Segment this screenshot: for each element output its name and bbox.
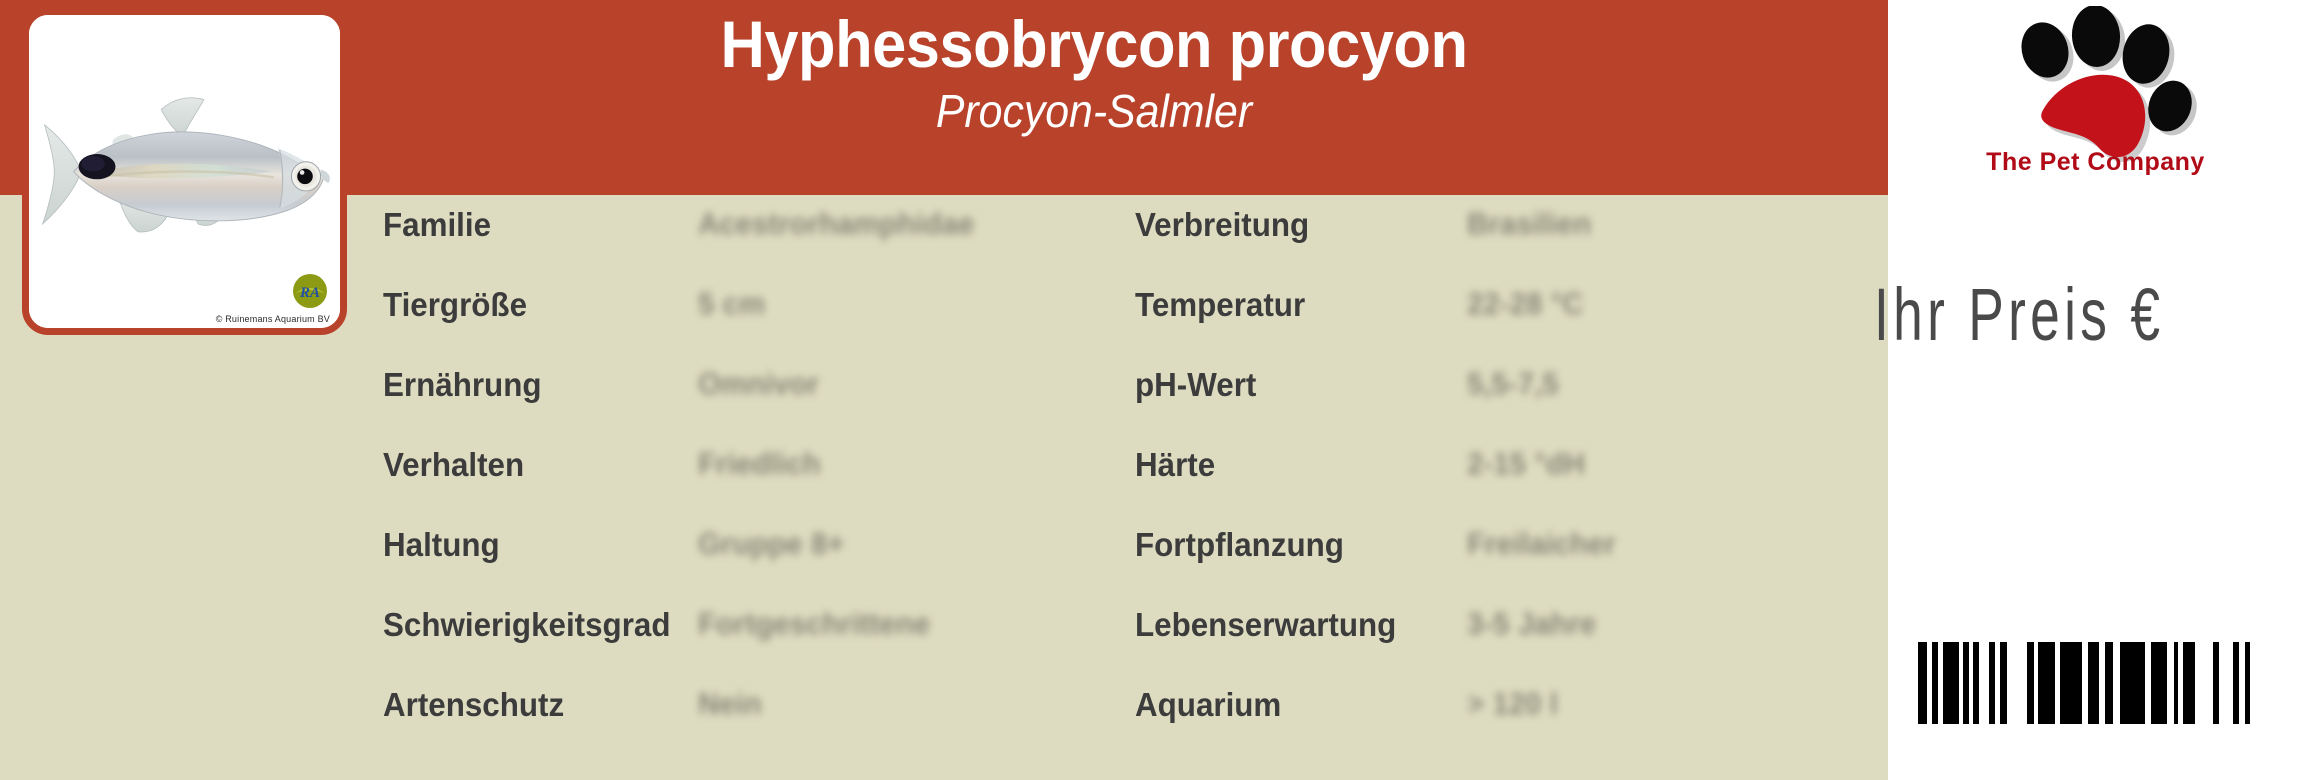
price-label: Ihr Preis € [1874,272,2191,357]
barcode-gap [1979,642,1989,724]
barcode-bar [2151,642,2167,724]
barcode-gap [2250,642,2264,724]
barcode-gap [2219,642,2233,724]
spec-label-familie: Familie [383,208,491,241]
spec-row: pH-Wert 5,5-7,5 [1135,368,1835,448]
spec-value-verbreitung: Brasilien [1467,208,1591,239]
barcode-gap [2195,642,2213,724]
barcode-bar [2088,642,2099,724]
barcode-gap [2167,642,2174,724]
spec-row: Tiergröße 5 cm [383,288,1083,368]
ruinemans-aquarium-logo-icon: RA [290,272,330,310]
spec-column-right: Verbreitung Brasilien Temperatur 22-28 °… [1135,208,1835,768]
photo-credit: © Ruinemans Aquarium BV [216,314,330,324]
spec-label-ph-wert: pH-Wert [1135,368,1256,401]
spec-value-verhalten: Friedlich [698,448,821,479]
product-label-page: Hyphessobrycon procyon Procyon-Salmler [0,0,2303,780]
spec-label-aquarium: Aquarium [1135,688,1281,721]
spec-label-verhalten: Verhalten [383,448,524,481]
price-panel: The Pet Company Ihr Preis € [1888,0,2303,780]
barcode-gap [2007,642,2027,724]
barcode-bar [2120,642,2145,724]
spec-label-haerte: Härte [1135,448,1215,481]
spec-value-haltung: Gruppe 8+ [698,528,844,559]
spec-label-lebenserwartung: Lebenserwartung [1135,608,1396,641]
spec-row: Schwierigkeitsgrad Fortgeschrittene [383,608,1083,688]
spec-label-verbreitung: Verbreitung [1135,208,1309,241]
spec-row: Haltung Gruppe 8+ [383,528,1083,608]
spec-row: Fortpflanzung Freilaicher [1135,528,1835,608]
spec-value-temperatur: 22-28 °C [1467,288,1584,319]
species-info-panel: Hyphessobrycon procyon Procyon-Salmler [0,0,1888,780]
spec-value-tiergroesse: 5 cm [698,288,765,319]
barcode-gap [2113,642,2120,724]
spec-label-tiergroesse: Tiergröße [383,288,527,321]
barcode-bar [2060,642,2082,724]
species-photo-card: RA © Ruinemans Aquarium BV [22,8,347,335]
spec-label-fortpflanzung: Fortpflanzung [1135,528,1344,561]
spec-row: Artenschutz Nein [383,688,1083,768]
spec-label-temperatur: Temperatur [1135,288,1305,321]
spec-value-ph-wert: 5,5-7,5 [1467,368,1559,399]
spec-label-ernaehrung: Ernährung [383,368,542,401]
spec-row: Verbreitung Brasilien [1135,208,1835,288]
spec-label-artenschutz: Artenschutz [383,688,564,721]
common-name: Procyon-Salmler [356,86,1833,137]
barcode-bar [2105,642,2113,724]
spec-label-schwierigkeitsgrad: Schwierigkeitsgrad [383,608,670,641]
spec-row: Lebenserwartung 3-5 Jahre [1135,608,1835,688]
spec-value-schwierigkeitsgrad: Fortgeschrittene [698,608,930,639]
barcode-bar [2027,642,2034,724]
spec-row: Temperatur 22-28 °C [1135,288,1835,368]
spec-value-familie: Acestrorhamphidae [698,208,975,239]
spec-value-artenschutz: Nein [698,688,762,719]
spec-value-ernaehrung: Omnivor [698,368,819,399]
barcode-bar [2183,642,2195,724]
brand-name: The Pet Company [1986,148,2205,177]
scientific-name: Hyphessobrycon procyon [356,8,1833,82]
spec-value-fortpflanzung: Freilaicher [1467,528,1616,559]
barcode-bar [2038,642,2055,724]
spec-row: Aquarium > 120 l [1135,688,1835,768]
spec-row: Ernährung Omnivor [383,368,1083,448]
barcode-bar [1918,642,1927,724]
barcode-bar [2000,642,2007,724]
title-block: Hyphessobrycon procyon Procyon-Salmler [300,8,1888,137]
spec-value-aquarium: > 120 l [1467,688,1558,719]
barcode [1918,642,2264,724]
spec-row: Härte 2-15 °dH [1135,448,1835,528]
spec-row: Familie Acestrorhamphidae [383,208,1083,288]
ra-badge-text: RA [299,285,320,301]
spec-column-left: Familie Acestrorhamphidae Tiergröße 5 cm… [383,208,1083,768]
barcode-bar [1943,642,1959,724]
spec-value-haerte: 2-15 °dH [1467,448,1585,479]
species-photo: RA © Ruinemans Aquarium BV [29,15,340,328]
spec-row: Verhalten Friedlich [383,448,1083,528]
spec-label-haltung: Haltung [383,528,500,561]
spec-value-lebenserwartung: 3-5 Jahre [1467,608,1596,639]
